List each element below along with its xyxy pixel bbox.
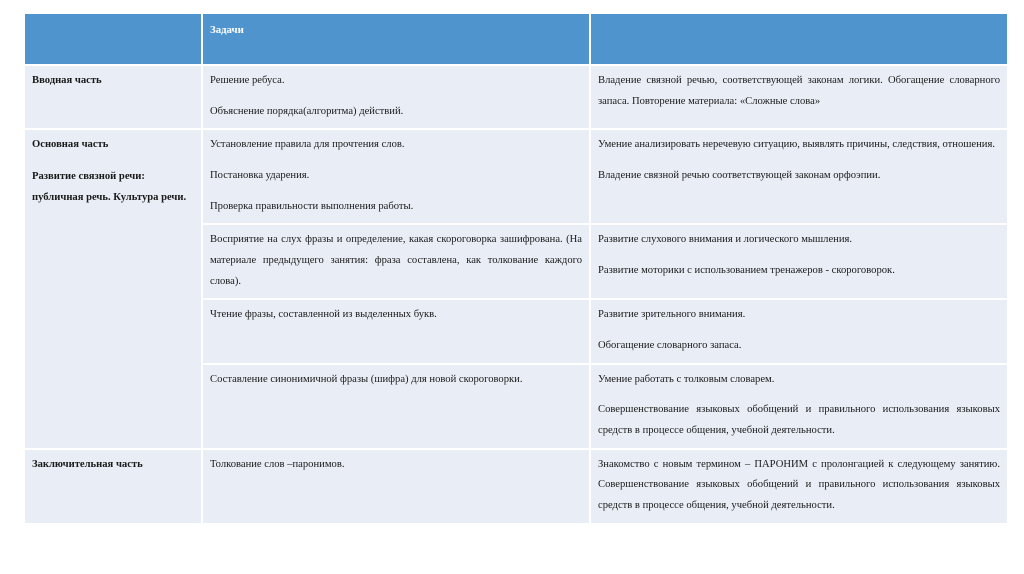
result-line: Знакомство с новым термином – ПАРОНИМ с … [598,455,1000,517]
header-cell-stage [25,14,201,64]
results-cell-row2: Умение анализировать неречевую ситуацию,… [591,130,1007,223]
result-line: Развитие слухового внимания и логическог… [598,230,1000,251]
result-line: Совершенствование языковых обобщений и п… [598,400,1000,441]
stage-subtitle: Развитие связной речи: публичная речь. К… [32,167,194,208]
tasks-cell-row6: Толкование слов –паронимов. [203,450,589,523]
result-line: Умение работать с толковым словарем. [598,370,1000,391]
header-cell-tasks: Задачи [203,14,589,64]
result-line: Умение анализировать неречевую ситуацию,… [598,135,1000,156]
slide-canvas: Задачи Вводная часть Решение ребуса. Объ… [0,0,1024,574]
tasks-cell-row5: Составление синонимичной фразы (шифра) д… [203,365,589,448]
results-cell-row4: Развитие зрительного внимания. Обогащени… [591,300,1007,362]
stage-label: Заключительная часть [32,455,194,476]
results-cell-row6: Знакомство с новым термином – ПАРОНИМ с … [591,450,1007,523]
task-line: Проверка правильности выполнения работы. [210,197,582,218]
stage-cell-final: Заключительная часть [25,450,201,523]
tasks-cell-row4: Чтение фразы, составленной из выделенных… [203,300,589,362]
task-line: Восприятие на слух фразы и определение, … [210,230,582,292]
results-cell-row3: Развитие слухового внимания и логическог… [591,225,1007,298]
tasks-cell-row2: Установление правила для прочтения слов.… [203,130,589,223]
task-line: Решение ребуса. [210,71,582,92]
lesson-plan-table: Задачи Вводная часть Решение ребуса. Объ… [23,12,1009,525]
stage-label: Основная часть [32,135,194,156]
results-cell-row5: Умение работать с толковым словарем. Сов… [591,365,1007,448]
result-line: Обогащение словарного запаса. [598,336,1000,357]
task-line: Толкование слов –паронимов. [210,455,582,476]
tasks-cell-row1: Решение ребуса. Объяснение порядка(алгор… [203,66,589,128]
stage-label: Вводная часть [32,71,194,92]
result-line: Развитие моторики с использованием трена… [598,261,1000,282]
task-line: Постановка ударения. [210,166,582,187]
stage-cell-main: Основная часть Развитие связной речи: пу… [25,130,201,447]
tasks-cell-row3: Восприятие на слух фразы и определение, … [203,225,589,298]
lesson-plan-table-wrapper: Задачи Вводная часть Решение ребуса. Объ… [23,12,1001,525]
task-line: Установление правила для прочтения слов. [210,135,582,156]
result-line: Владение связной речью, соответствующей … [598,71,1000,112]
table-row: Вводная часть Решение ребуса. Объяснение… [25,66,1007,128]
header-cell-results [591,14,1007,64]
table-header-row: Задачи [25,14,1007,64]
task-line: Составление синонимичной фразы (шифра) д… [210,370,582,391]
stage-cell-intro: Вводная часть [25,66,201,128]
table-row: Заключительная часть Толкование слов –па… [25,450,1007,523]
table-row: Основная часть Развитие связной речи: пу… [25,130,1007,223]
results-cell-row1: Владение связной речью, соответствующей … [591,66,1007,128]
result-line: Развитие зрительного внимания. [598,305,1000,326]
task-line: Объяснение порядка(алгоритма) действий. [210,102,582,123]
task-line: Чтение фразы, составленной из выделенных… [210,305,582,326]
result-line: Владение связной речью соответствующей з… [598,166,1000,187]
